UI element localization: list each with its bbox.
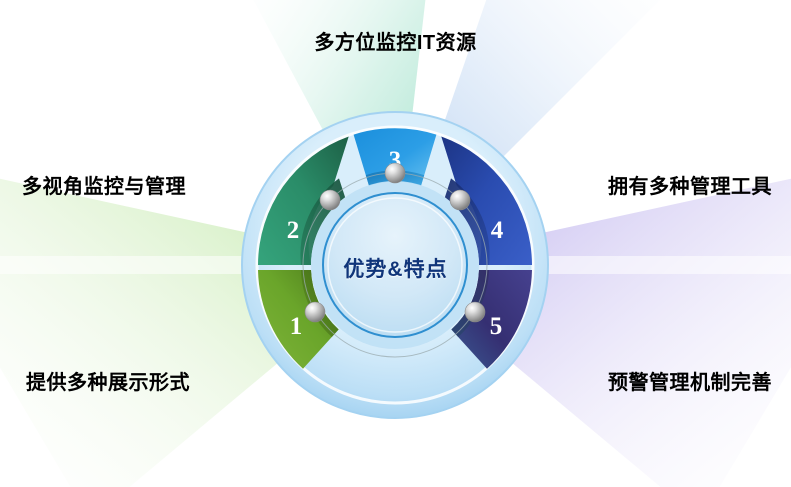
bead-1-icon[interactable]: [305, 302, 325, 322]
segment-2-number: 2: [287, 217, 300, 244]
center-label: 优势&特点: [0, 253, 791, 283]
donut-diagram: 3 2 1 4 5: [0, 0, 791, 487]
bead-3-icon[interactable]: [385, 163, 405, 183]
label-left-top: 多视角监控与管理: [22, 170, 186, 199]
infographic-canvas: 3 2 1 4 5: [0, 0, 791, 487]
bead-4-icon[interactable]: [450, 190, 470, 210]
segment-1-number: 1: [290, 313, 303, 340]
label-right-top: 拥有多种管理工具: [608, 170, 772, 199]
bead-2-icon[interactable]: [320, 190, 340, 210]
label-left-bottom: 提供多种展示形式: [26, 366, 190, 395]
segment-4-number: 4: [491, 217, 504, 244]
label-right-bottom: 预警管理机制完善: [608, 366, 772, 395]
segment-5-number: 5: [490, 313, 503, 340]
bead-5-icon[interactable]: [465, 302, 485, 322]
label-top: 多方位监控IT资源: [0, 26, 791, 55]
